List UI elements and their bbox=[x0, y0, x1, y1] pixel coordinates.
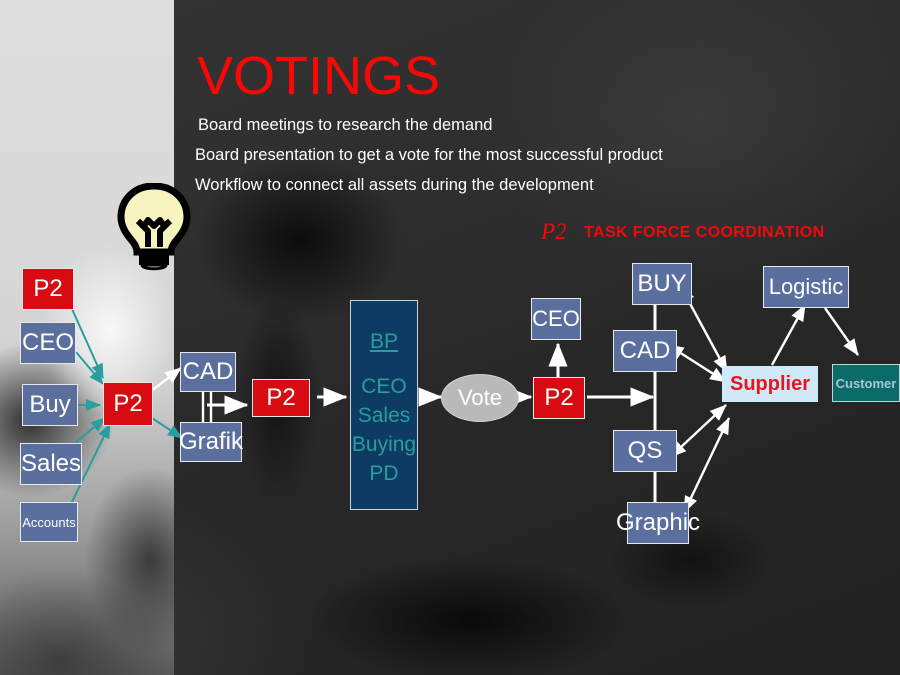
box-label: Sales bbox=[21, 450, 81, 478]
box-label: P2 bbox=[266, 384, 295, 412]
box-bp-panel[interactable]: BP CEO Sales Buying PD bbox=[350, 300, 418, 510]
box-left-sales[interactable]: Sales bbox=[20, 443, 82, 485]
box-label: P2 bbox=[544, 384, 573, 412]
box-logistic[interactable]: Logistic bbox=[763, 266, 849, 308]
box-label: Grafik bbox=[179, 428, 243, 456]
bp-member-sales: Sales bbox=[358, 401, 411, 430]
bp-content: BP CEO Sales Buying PD bbox=[351, 301, 417, 509]
connector-layer bbox=[0, 0, 900, 675]
bp-member-pd: PD bbox=[369, 459, 398, 488]
box-cad-right[interactable]: CAD bbox=[613, 330, 677, 372]
box-label: Customer bbox=[836, 376, 897, 391]
arrow-logistic-to-customer bbox=[825, 308, 858, 355]
box-graphic[interactable]: Graphic bbox=[627, 502, 689, 544]
box-label: Logistic bbox=[769, 274, 844, 300]
box-left-buy[interactable]: Buy bbox=[22, 384, 78, 426]
box-label: BUY bbox=[637, 270, 686, 298]
task-force-marker: P2 bbox=[541, 219, 567, 245]
box-label: P2 bbox=[33, 275, 62, 303]
bp-member-ceo: CEO bbox=[361, 372, 407, 401]
box-label: CAD bbox=[620, 337, 671, 365]
box-label: Graphic bbox=[616, 509, 700, 537]
box-customer[interactable]: Customer bbox=[832, 364, 900, 402]
box-buy[interactable]: BUY bbox=[632, 263, 692, 305]
slide-title: VOTINGS bbox=[197, 46, 440, 106]
slide-canvas: VOTINGS Board meetings to research the d… bbox=[0, 0, 900, 675]
box-left-ceo[interactable]: CEO bbox=[20, 322, 76, 364]
box-label: Accounts bbox=[22, 515, 75, 530]
box-supplier[interactable]: Supplier bbox=[722, 366, 818, 402]
task-force-heading: TASK FORCE COORDINATION bbox=[584, 224, 825, 242]
box-label: CAD bbox=[183, 358, 234, 386]
ellipse-vote[interactable]: Vote bbox=[441, 374, 519, 422]
box-left-accounts[interactable]: Accounts bbox=[20, 502, 78, 542]
bullet-2: Board presentation to get a vote for the… bbox=[195, 145, 663, 165]
box-label: CEO bbox=[22, 329, 74, 357]
box-grafik[interactable]: Grafik bbox=[180, 422, 242, 462]
bp-member-buying: Buying bbox=[352, 430, 416, 459]
box-left-p2[interactable]: P2 bbox=[22, 268, 74, 310]
box-label: P2 bbox=[113, 390, 142, 418]
box-ceo-top[interactable]: CEO bbox=[531, 298, 581, 340]
bullet-3: Workflow to connect all assets during th… bbox=[195, 175, 594, 195]
box-hub-p2[interactable]: P2 bbox=[103, 382, 153, 426]
box-label: Buy bbox=[29, 391, 70, 419]
box-label: Vote bbox=[458, 385, 502, 411]
cad-grafik-merge bbox=[203, 390, 247, 424]
bp-title: BP bbox=[370, 327, 398, 356]
bullet-1: Board meetings to research the demand bbox=[198, 115, 492, 135]
box-label: QS bbox=[628, 437, 663, 465]
arrow-hub-to-cad bbox=[150, 368, 181, 392]
box-label: Supplier bbox=[730, 373, 810, 396]
box-qs[interactable]: QS bbox=[613, 430, 677, 472]
arrow-supplier-to-logistic bbox=[772, 305, 805, 365]
box-label: CEO bbox=[532, 306, 580, 332]
box-cad-left[interactable]: CAD bbox=[180, 352, 236, 392]
box-stage-p2[interactable]: P2 bbox=[252, 379, 310, 417]
lightbulb-icon bbox=[110, 183, 198, 271]
box-decision-p2[interactable]: P2 bbox=[533, 377, 585, 419]
